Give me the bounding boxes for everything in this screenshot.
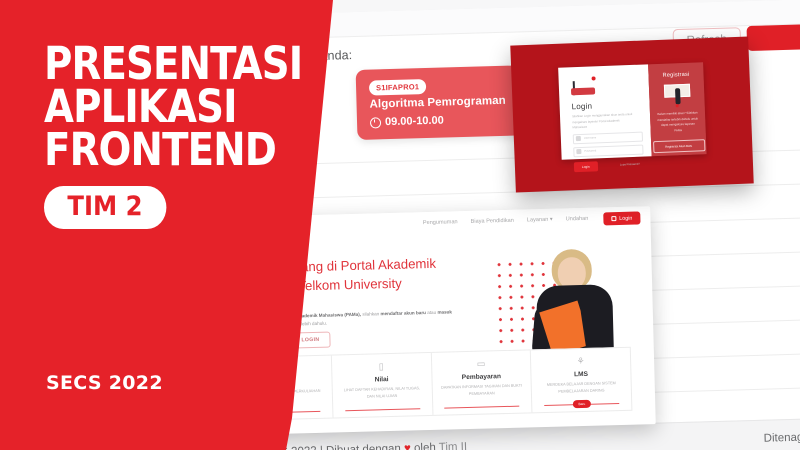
key-icon	[576, 149, 581, 154]
hero-p-3: atau	[427, 310, 436, 315]
title-panel: PRESENTASI APLIKASI FRONTEND TIM 2 SECS …	[0, 0, 345, 450]
slide-canvas: ...uliahan anda: Refresh S1IFAPRO1 Algor…	[0, 0, 800, 450]
footer-credit-prefix: S 2022 | Dibuat dengan	[280, 443, 401, 450]
nav-item-pengumuman[interactable]: Pengumuman	[423, 219, 458, 226]
login-modal-screenshot: Login Silahkan Login menggunakan akun an…	[510, 36, 753, 192]
login-illustration-icon	[571, 76, 598, 97]
feature-desc: MERDEKA BELAJAR DENGAN SISTEM PEMBELAJAR…	[532, 380, 631, 396]
footer-credit-middle: oleh	[414, 442, 436, 450]
nav-item-biaya-pendidikan[interactable]: Biaya Pendidikan	[471, 218, 514, 225]
card-underline	[345, 408, 420, 411]
feature-card-nilai[interactable]: ▯ Nilai LIHAT DAFTAR KEHADIRAN, NILAI TU…	[332, 353, 433, 418]
username-placeholder: Username	[584, 136, 597, 139]
schedule-card[interactable]: S1IFAPRO1 Algoritma Pemrograman 09.00-10…	[356, 65, 530, 140]
login-submit-button[interactable]: Login	[574, 161, 598, 172]
password-placeholder: Password	[584, 149, 596, 152]
feature-title: LMS	[532, 370, 631, 380]
footer-credit: S 2022 | Dibuat dengan ♥ oleh Tim II	[280, 441, 467, 450]
lock-icon	[612, 216, 617, 221]
portal-login-label: Login	[619, 215, 632, 221]
footer-powered-by: Ditenagai Cor	[764, 431, 800, 445]
hero-p-2: silahkan	[362, 311, 379, 316]
hero-p-b2: mendaftar akun baru	[380, 310, 426, 316]
footer-team-link[interactable]: Tim II	[439, 441, 468, 450]
register-button[interactable]: Registrasi Akun Baru	[653, 139, 705, 153]
bar-chart-icon: ▯	[332, 360, 431, 374]
register-panel: Registrasi Belum memiliki akun? Silahkan…	[648, 62, 706, 156]
login-panel: Login Silahkan Login menggunakan akun an…	[558, 64, 651, 159]
feature-desc: DAPATKAN INFORMASI TAGIHAN DAN BUKTI PEM…	[432, 382, 531, 398]
course-name: Algoritma Pemrograman	[369, 95, 506, 111]
user-icon	[576, 136, 581, 141]
clock-icon	[370, 117, 381, 128]
primary-action-button[interactable]	[747, 24, 800, 51]
forgot-password-link[interactable]: Lupa Password?	[620, 163, 640, 167]
password-input[interactable]: Password	[573, 144, 643, 157]
graduation-cap-icon: ⚘	[531, 355, 630, 369]
title-line-1: PRESENTASI	[44, 42, 276, 85]
title-line-3: FRONTEND	[44, 128, 276, 171]
feature-desc: LIHAT DAFTAR KEHADIRAN, NILAI TUGAS, DAN…	[332, 385, 431, 401]
login-actions: Login Lupa Password?	[574, 159, 640, 172]
team-badge: TIM 2	[44, 186, 166, 229]
course-time: 09.00-10.00	[370, 115, 444, 129]
username-input[interactable]: Username	[573, 131, 643, 144]
feature-title: Nilai	[332, 375, 431, 385]
title-line-2: APLIKASI	[44, 85, 276, 128]
heart-icon: ♥	[404, 443, 411, 450]
feature-card-pembayaran[interactable]: ▭ Pembayaran DAPATKAN INFORMASI TAGIHAN …	[431, 350, 532, 415]
register-title: Registrasi	[648, 71, 703, 79]
new-badge: Baru	[572, 400, 591, 408]
card-underline	[445, 405, 520, 408]
course-code-badge: S1IFAPRO1	[369, 79, 426, 96]
feature-card-lms[interactable]: ⚘ LMS MERDEKA BELAJAR DENGAN SISTEM PEMB…	[531, 348, 631, 413]
nav-item-unduhan[interactable]: Undahan	[566, 216, 589, 223]
course-time-text: 09.00-10.00	[385, 115, 444, 129]
login-modal: Login Silahkan Login menggunakan akun an…	[558, 62, 706, 159]
login-subtitle: Silahkan Login menggunakan akun anda unt…	[572, 112, 635, 131]
feature-title: Pembayaran	[432, 372, 531, 382]
portal-login-button[interactable]: Login	[604, 211, 641, 225]
credit-card-icon: ▭	[432, 357, 531, 371]
register-text: Belum memiliki akun? Silahkan mendaftar …	[657, 110, 699, 134]
portal-nav-items: Pengumuman Biaya Pendidikan Layanan ▾ Un…	[423, 216, 589, 226]
nav-item-layanan[interactable]: Layanan ▾	[527, 217, 553, 224]
footer-powered-prefix: Ditenagai	[764, 431, 800, 444]
slide-title: PRESENTASI APLIKASI FRONTEND TIM 2	[44, 42, 314, 229]
register-illustration-icon	[663, 84, 690, 107]
login-title: Login	[571, 100, 641, 112]
course-label: SECS 2022	[46, 372, 163, 394]
